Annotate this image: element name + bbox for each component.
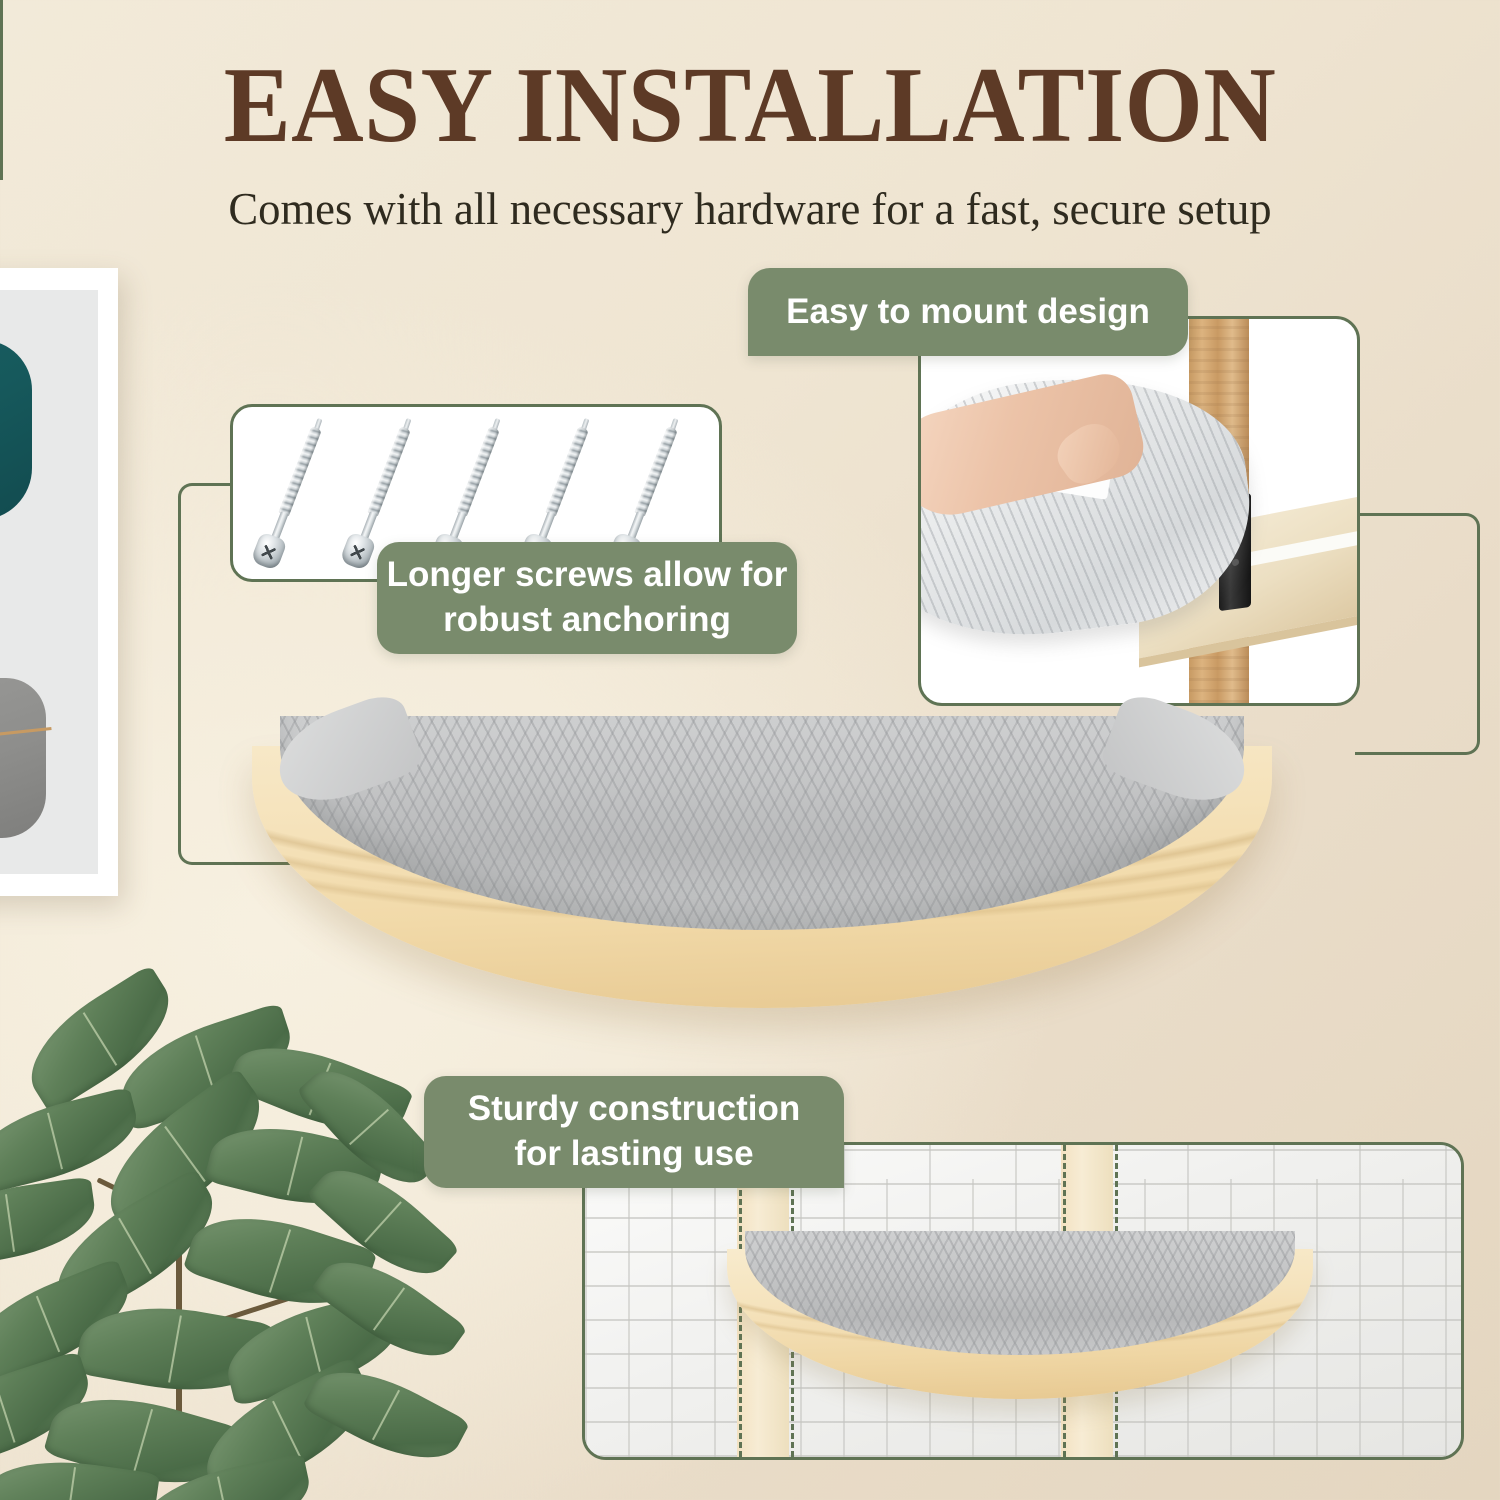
callout-label: Easy to mount design [786, 292, 1150, 332]
page-title: EASY INSTALLATION [53, 0, 1448, 160]
screw-shaft [546, 426, 589, 516]
framed-wall-art [0, 268, 118, 896]
art-teal-shape [0, 340, 32, 520]
screw-shaft [457, 426, 500, 516]
screw-head [339, 531, 377, 571]
screw-head [250, 531, 288, 571]
screw-shaft [279, 426, 322, 516]
callout-sturdy-construction[interactable]: Sturdy construction for lasting use [424, 1076, 844, 1188]
screw-shaft [368, 426, 411, 516]
connector-line-right [1355, 513, 1480, 755]
mounted-product [727, 1223, 1313, 1405]
screw-shaft [635, 426, 678, 516]
header: EASY INSTALLATION Comes with all necessa… [0, 0, 1500, 235]
callout-label-line1: Longer screws allow for [387, 553, 788, 598]
wall-art-canvas [0, 290, 98, 874]
screw-icon [249, 423, 330, 575]
rubber-plant [0, 1010, 460, 1500]
callout-easy-to-mount[interactable]: Easy to mount design [748, 268, 1188, 356]
mounting-demo-photo [918, 316, 1360, 706]
page-subtitle: Comes with all necessary hardware for a … [23, 182, 1478, 235]
callout-longer-screws[interactable]: Longer screws allow for robust anchoring [377, 542, 797, 654]
callout-label-line2: robust anchoring [387, 598, 788, 643]
art-gray-shape [0, 678, 46, 838]
product-hero-image [252, 700, 1272, 1020]
callout-label-line1: Sturdy construction [468, 1087, 801, 1132]
installed-on-wall-photo [582, 1142, 1464, 1460]
callout-label-line2: for lasting use [468, 1132, 801, 1177]
